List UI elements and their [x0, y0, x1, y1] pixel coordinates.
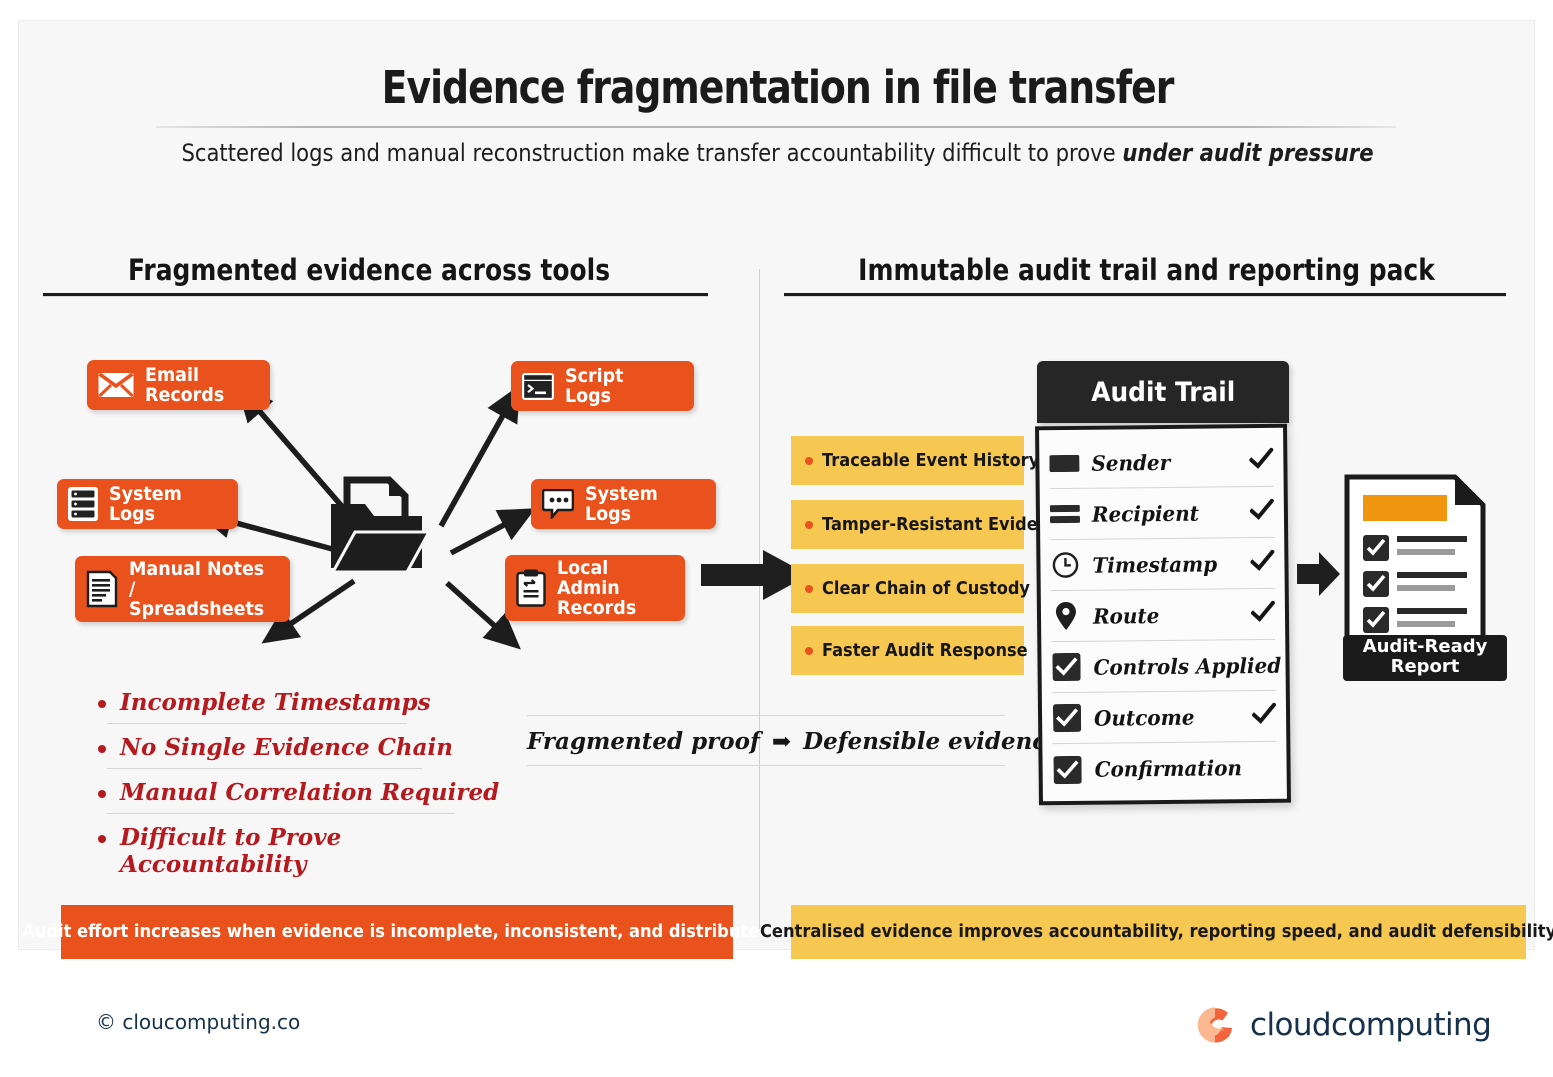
audit-row-confirmation[interactable]: Confirmation — [1052, 742, 1277, 795]
bullet-dot — [98, 835, 106, 843]
audit-trail-rows: Sender Recipient — [1035, 424, 1291, 806]
problem-list-item: Manual Correlation Required — [97, 779, 517, 814]
audit-row-label: Recipient — [1092, 500, 1231, 526]
source-chip-system-logs-left[interactable]: System Logs — [57, 479, 238, 529]
source-chip-label: Email Records — [145, 365, 247, 405]
left-banner-text: Audit effort increases when evidence is … — [23, 922, 772, 942]
benefit-chip-tamper-resistant-evidence[interactable]: Tamper-Resistant Evidence — [791, 500, 1024, 549]
notes-document-icon — [86, 570, 118, 608]
item-underline — [107, 768, 422, 769]
bullet-dot — [98, 700, 106, 708]
benefit-label: Tamper-Resistant Evidence — [822, 514, 1070, 535]
source-chip-manual-notes[interactable]: Manual Notes / Spreadsheets — [75, 556, 290, 622]
source-chip-label: System Logs — [109, 484, 215, 524]
audit-trail-card: Audit Trail Sender — [1037, 361, 1289, 804]
right-banner-text: Centralised evidence improves accountabi… — [760, 922, 1553, 942]
bullet-dot — [805, 647, 813, 655]
problem-label: No Single Evidence Chain — [120, 734, 453, 761]
problem-list-item: Incomplete Timestamps — [97, 689, 517, 724]
checkbox-icon — [1052, 755, 1082, 783]
subtitle-text: Scattered logs and manual reconstruction… — [181, 139, 1122, 167]
filled-bar-icon — [1049, 454, 1079, 471]
envelope-icon — [98, 372, 134, 398]
subtitle-emphasis: under audit pressure — [1122, 139, 1373, 167]
terminal-icon — [522, 373, 554, 400]
report-label: Audit-Ready Report — [1343, 637, 1507, 677]
tagline-from: Fragmented proof — [527, 728, 760, 755]
problem-label: Difficult to Prove Accountability — [120, 824, 341, 878]
source-chip-email-records[interactable]: Email Records — [87, 360, 270, 410]
audit-trail-title: Audit Trail — [1091, 377, 1235, 408]
right-column-heading: Immutable audit trail and reporting pack — [839, 253, 1454, 287]
copyright-text: © cloucomputing.co — [96, 1010, 300, 1034]
clipboard-icon — [516, 569, 546, 607]
benefit-label: Traceable Event History — [822, 450, 1039, 471]
infographic-canvas: Evidence fragmentation in file transfer … — [0, 0, 1553, 1077]
checkbox-icon — [1051, 653, 1081, 681]
benefit-chip-traceable-event-history[interactable]: Traceable Event History — [791, 436, 1024, 485]
benefit-label: Clear Chain of Custody — [822, 578, 1030, 599]
source-chip-label: System Logs — [585, 484, 693, 524]
problem-label: Manual Correlation Required — [120, 779, 499, 806]
bullet-dot — [98, 790, 106, 798]
right-arrow-icon: ➡ — [768, 728, 795, 755]
audit-row-label: Controls Applied — [1093, 652, 1281, 679]
double-bar-icon — [1050, 504, 1080, 523]
check-icon — [1252, 702, 1276, 729]
page-title: Evidence fragmentation in file transfer — [140, 61, 1414, 114]
source-chip-label: Script Logs — [565, 366, 671, 406]
benefit-chip-faster-audit-response[interactable]: Faster Audit Response — [791, 626, 1024, 675]
audit-row-label: Outcome — [1094, 704, 1233, 730]
left-column-divider — [43, 293, 708, 296]
report-label-line1: Audit-Ready — [1343, 637, 1507, 657]
folder-document-icon — [329, 476, 433, 576]
audit-row-outcome[interactable]: Outcome — [1052, 691, 1277, 744]
central-evidence-hub — [329, 476, 433, 581]
left-summary-banner: Audit effort increases when evidence is … — [61, 905, 733, 959]
brand-logo: cloudcomputing — [1192, 1002, 1491, 1048]
audit-to-report-arrow — [1297, 551, 1341, 597]
transition-tagline: Fragmented proof ➡ Defensible evidence — [527, 716, 1005, 765]
check-icon — [1249, 447, 1273, 474]
report-label-line2: Report — [1343, 657, 1507, 677]
audit-row-controls-applied[interactable]: Controls Applied — [1051, 640, 1276, 693]
page-subtitle: Scattered logs and manual reconstruction… — [110, 139, 1445, 167]
bullet-dot — [805, 521, 813, 529]
source-chip-label: Manual Notes / Spreadsheets — [129, 559, 264, 619]
check-icon — [1251, 600, 1275, 627]
source-chip-label: Local Admin Records — [557, 558, 662, 618]
audit-row-route[interactable]: Route — [1051, 589, 1276, 642]
problem-list-item: Difficult to Prove Accountability — [97, 824, 517, 886]
checkbox-icon — [1052, 704, 1082, 732]
chat-bubble-icon — [542, 489, 574, 519]
source-chip-system-logs-right[interactable]: System Logs — [531, 479, 716, 529]
clock-icon — [1050, 551, 1080, 579]
tagline-bottom-rule — [527, 765, 1005, 766]
map-pin-icon — [1051, 601, 1081, 631]
right-column-divider — [784, 293, 1506, 296]
audit-ready-report-card[interactable]: Audit-Ready Report — [1341, 473, 1511, 688]
left-column-heading: Fragmented evidence across tools — [85, 253, 653, 287]
audit-row-label: Route — [1093, 602, 1232, 628]
check-icon — [1250, 549, 1274, 576]
check-icon — [1250, 498, 1274, 525]
item-underline — [107, 723, 407, 724]
bullet-dot — [805, 585, 813, 593]
benefit-label: Faster Audit Response — [822, 640, 1028, 661]
content-panel: Evidence fragmentation in file transfer … — [18, 20, 1535, 950]
audit-trail-header: Audit Trail — [1037, 361, 1289, 423]
transition-tagline-block: Fragmented proof ➡ Defensible evidence — [527, 715, 1005, 766]
logo-wordmark: cloudcomputing — [1250, 1007, 1491, 1043]
audit-row-label: Timestamp — [1092, 551, 1231, 577]
audit-row-recipient[interactable]: Recipient — [1050, 487, 1275, 540]
server-rack-icon — [68, 487, 98, 521]
audit-row-label: Sender — [1091, 449, 1230, 475]
title-divider — [156, 126, 1396, 128]
audit-row-label: Confirmation — [1094, 755, 1242, 782]
audit-row-timestamp[interactable]: Timestamp — [1050, 538, 1275, 591]
source-chip-script-logs[interactable]: Script Logs — [511, 361, 694, 411]
right-summary-banner: Centralised evidence improves accountabi… — [791, 905, 1526, 959]
problem-list-item: No Single Evidence Chain — [97, 734, 517, 769]
audit-row-sender[interactable]: Sender — [1049, 436, 1274, 489]
bullet-dot — [805, 457, 813, 465]
bullet-dot — [98, 745, 106, 753]
tagline-to: Defensible evidence — [803, 728, 1061, 755]
source-chip-local-admin-records[interactable]: Local Admin Records — [505, 555, 685, 621]
problem-label: Incomplete Timestamps — [120, 689, 431, 716]
item-underline — [107, 813, 455, 814]
cloudcomputing-c-logo — [1192, 1002, 1238, 1048]
problem-list: Incomplete Timestamps No Single Evidence… — [97, 689, 517, 896]
benefit-chip-clear-chain-of-custody[interactable]: Clear Chain of Custody — [791, 564, 1024, 613]
